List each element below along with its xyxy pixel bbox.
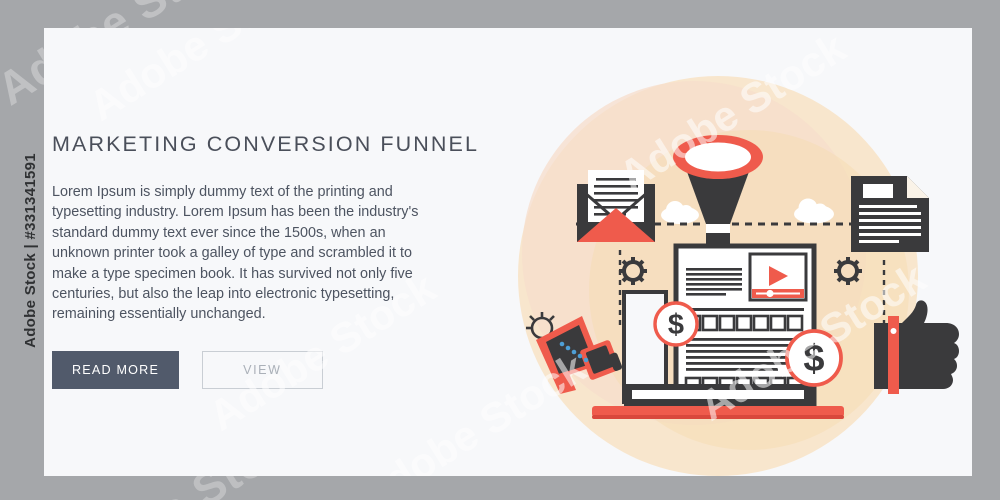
view-button[interactable]: VIEW <box>202 351 323 389</box>
marketing-funnel-illustration: $ $ <box>464 28 972 476</box>
dollar-symbol-left: $ <box>668 309 684 341</box>
watermark-text: Adobe Stock <box>81 28 324 130</box>
video-player-icon <box>750 254 806 300</box>
text-column: MARKETING CONVERSION FUNNEL Lorem Ipsum … <box>52 132 442 389</box>
page-title: MARKETING CONVERSION FUNNEL <box>52 132 442 157</box>
dollar-symbol-right: $ <box>803 338 824 380</box>
button-row: READ MORE VIEW <box>52 351 442 389</box>
body-paragraph: Lorem Ipsum is simply dummy text of the … <box>52 182 432 325</box>
dollar-badge-left: $ <box>655 303 697 345</box>
slide-canvas: MARKETING CONVERSION FUNNEL Lorem Ipsum … <box>44 28 972 476</box>
dollar-badge-right: $ <box>787 331 841 385</box>
credit-strip: Adobe Stock | #331341591 <box>16 0 44 500</box>
envelope-icon <box>577 170 655 242</box>
read-more-button[interactable]: READ MORE <box>52 351 179 389</box>
credit-label: Adobe Stock | #331341591 <box>22 153 39 348</box>
document-icon <box>851 176 929 252</box>
